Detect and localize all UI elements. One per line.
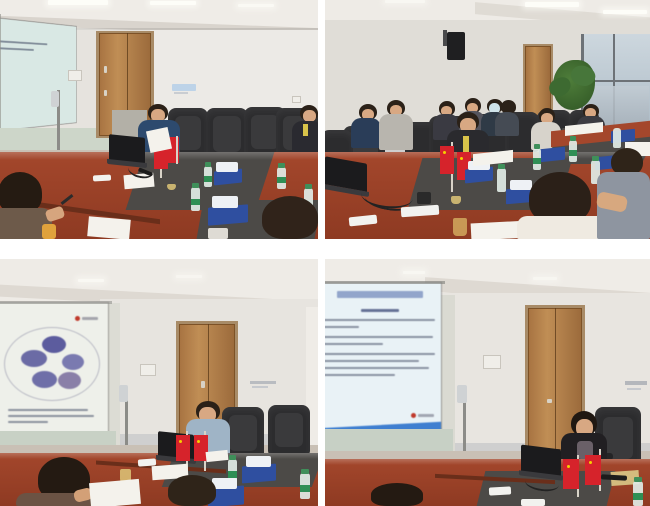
slide-subheading <box>361 309 399 312</box>
projection-screen <box>0 18 76 131</box>
person-head-foreground <box>371 483 423 506</box>
tissue-paper <box>212 196 238 208</box>
meeting-room-scene <box>0 259 318 506</box>
door-handle <box>201 381 205 388</box>
chinese-flag <box>176 435 190 461</box>
wall-picture <box>68 70 82 81</box>
bottle-cap <box>205 162 211 167</box>
door-seam <box>555 308 556 450</box>
ceiling-light <box>525 2 579 7</box>
photo-top-right <box>325 0 650 239</box>
flag-star <box>567 465 570 468</box>
slide-body-line <box>325 343 383 345</box>
ceiling-light <box>78 279 104 282</box>
screen-top-frame <box>0 301 112 304</box>
smartphone <box>208 228 228 239</box>
projection-screen <box>325 283 441 433</box>
bottle-label <box>204 176 212 182</box>
bottle-label <box>228 471 237 478</box>
meeting-room-scene <box>325 0 650 239</box>
flag-pole <box>176 136 178 164</box>
ceiling-light <box>533 277 557 280</box>
person-torso <box>351 118 381 148</box>
door-handle <box>104 90 107 96</box>
chinese-flag <box>563 459 579 489</box>
bottle-cap <box>192 183 199 188</box>
diagram-bubble-left <box>21 350 47 367</box>
cable-plug <box>417 192 431 204</box>
slide-body-line <box>325 319 435 321</box>
table-highlight <box>325 459 650 465</box>
slide-text-line <box>0 47 34 51</box>
wall-sign <box>172 84 196 91</box>
bottle-label <box>300 485 310 492</box>
bottle-cap <box>301 469 309 474</box>
bottle-cap <box>498 164 505 169</box>
slide-logo-text <box>418 414 434 417</box>
slide-text-line <box>0 40 47 45</box>
wall-switch <box>292 96 301 103</box>
wall-sign <box>625 381 647 385</box>
diagram-bubble-right <box>62 354 84 370</box>
bottle-cap <box>229 455 236 460</box>
ceiling-light <box>48 0 108 5</box>
person-torso <box>379 114 413 150</box>
photo-top-left <box>0 0 318 239</box>
smartphone <box>93 175 111 182</box>
ceiling-light <box>150 1 196 5</box>
diagram-bubble-top <box>42 336 66 353</box>
tissue-box <box>539 147 565 163</box>
slide-body-line <box>325 374 395 376</box>
diagram-bubble-bottom-right <box>58 372 81 389</box>
bottle-label <box>191 199 200 205</box>
screen-top-frame <box>325 281 445 284</box>
wall-sign <box>250 381 276 384</box>
chair-cushion <box>213 116 241 152</box>
slide-body-line <box>325 353 435 355</box>
slide-body-line <box>325 336 433 338</box>
flag-star <box>460 157 463 160</box>
slide-logo <box>75 316 80 321</box>
bottle-cap <box>592 156 599 161</box>
bottle-cap <box>278 163 285 168</box>
person-torso-foreground <box>517 216 609 239</box>
document <box>146 127 172 153</box>
tablet-on-stand <box>457 385 467 403</box>
tissue-paper <box>510 180 532 190</box>
water-bottle <box>497 168 506 192</box>
photo-collage <box>0 0 650 506</box>
slide-title <box>337 291 423 298</box>
door-handle <box>547 399 552 403</box>
remote-control <box>489 486 511 495</box>
slide-caption-line <box>8 415 94 417</box>
person-torso <box>495 112 519 136</box>
flag-star <box>589 461 592 464</box>
projection-screen <box>0 303 108 435</box>
flag-star <box>443 151 446 154</box>
smartphone <box>138 458 156 466</box>
slide-caption-line <box>8 421 48 423</box>
bottle-label <box>277 177 286 183</box>
water-bottle <box>613 128 621 148</box>
slide-body-line <box>325 367 429 369</box>
door-handle <box>104 66 107 73</box>
bottle-label <box>569 150 577 156</box>
bottle-cap <box>305 184 312 189</box>
slide-logo-text <box>82 317 98 320</box>
document <box>87 216 131 239</box>
person-head-foreground <box>262 196 318 239</box>
chair-cushion <box>251 115 279 149</box>
slide-body-line <box>325 360 419 362</box>
photo-bottom-left <box>0 259 318 506</box>
tissue-paper <box>216 162 238 172</box>
photo-bottom-right <box>325 259 650 506</box>
wall-picture <box>483 355 501 369</box>
chinese-flag <box>585 455 601 485</box>
slide-logo <box>411 413 416 418</box>
tea-cup <box>453 218 467 236</box>
diagram-bubble-bottom-left <box>32 371 57 388</box>
ceiling-speaker <box>447 32 465 60</box>
ceiling-light <box>403 271 425 274</box>
ceiling-light <box>238 4 274 7</box>
slide-caption-line <box>8 409 88 411</box>
wall-sign-sub <box>627 388 641 390</box>
tissue-paper <box>246 456 271 467</box>
tablet-on-stand <box>51 91 59 107</box>
tea-cup <box>451 196 461 204</box>
chair-cushion <box>275 413 303 447</box>
wall-sign-sub <box>174 92 188 94</box>
ceiling-light <box>385 0 425 3</box>
bottle-cap <box>534 144 540 149</box>
wall-sign-sub <box>252 386 268 388</box>
bottle-label <box>533 158 541 164</box>
tablet-on-stand <box>119 385 128 402</box>
slide-body-line <box>325 326 359 328</box>
bottle-cap <box>634 477 642 482</box>
wall-picture <box>140 364 156 376</box>
flag-star <box>197 440 200 443</box>
flag-star <box>179 440 182 443</box>
chair-cushion <box>229 415 257 451</box>
screen-left-frame <box>0 14 1 134</box>
document-foreground <box>89 479 141 506</box>
meeting-room-scene <box>325 259 650 506</box>
ceiling-light <box>176 275 202 278</box>
ceiling-light <box>603 10 647 14</box>
bottle-label <box>633 493 643 500</box>
bottle-cap <box>570 136 576 141</box>
bag <box>42 224 56 239</box>
meeting-room-scene <box>0 0 318 239</box>
lanyard <box>303 124 308 136</box>
chinese-flag <box>440 146 454 174</box>
smartphone <box>521 499 545 506</box>
person-head-foreground <box>168 475 216 506</box>
